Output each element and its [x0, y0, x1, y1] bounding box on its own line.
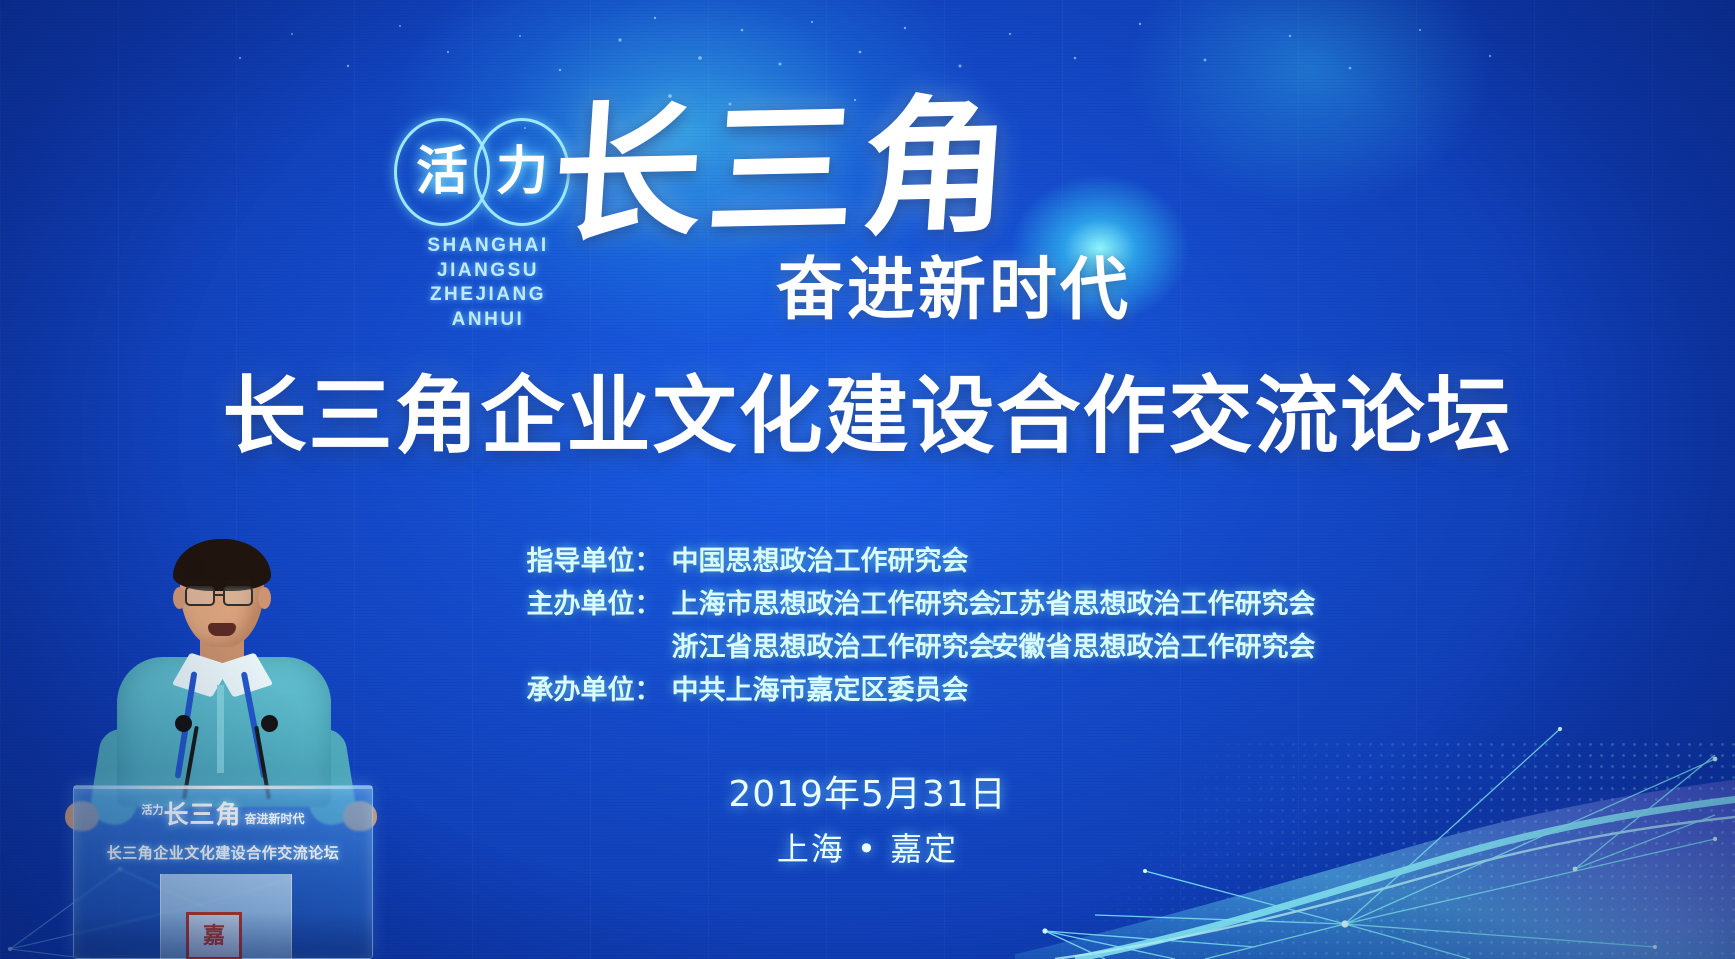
- region-line-zhejiang: ZHEJIANG: [400, 283, 576, 308]
- vitality-badge-group: 活 力: [394, 118, 570, 226]
- podium-shadow: [74, 912, 372, 958]
- organizer-name-secondary: [992, 677, 1292, 704]
- glasses-lens-left-icon: [185, 586, 215, 606]
- podium-logo-brush: 长三角: [163, 800, 241, 829]
- brush-subtitle-new-era: 奋进新时代: [776, 256, 1131, 324]
- microphone-icon-right: [261, 715, 278, 732]
- organizer-name-secondary: [992, 548, 1292, 575]
- speaker-ear-right: [258, 587, 271, 609]
- speaker-eyebrow-right: [225, 580, 251, 584]
- region-line-jiangsu: JIANGSU: [400, 259, 576, 284]
- podium: 活力长三角奋进新时代 长三角企业文化建设合作交流论坛 嘉: [73, 785, 373, 959]
- conference-stage-backdrop: 活 力 SHANGHAI JIANGSU ZHEJIANG ANHUI 长三角 …: [0, 0, 1735, 959]
- speaker-at-podium: 活力长三角奋进新时代 长三角企业文化建设合作交流论坛 嘉: [55, 539, 385, 959]
- glasses-lens-right-icon: [223, 586, 253, 606]
- podium-title: 长三角企业文化建设合作交流论坛: [74, 842, 372, 863]
- podium-top-edge: [74, 786, 372, 789]
- organizer-name-primary: 上海市思想政治工作研究会: [662, 591, 992, 618]
- podium-logo-tag: 奋进新时代: [245, 812, 305, 826]
- speaker-mouth: [208, 623, 236, 636]
- organizer-name-primary: 中国思想政治工作研究会: [662, 548, 992, 575]
- organizer-name-secondary: 安徽省思想政治工作研究会: [992, 634, 1292, 661]
- organizer-label: [444, 634, 662, 661]
- microphone-icon-left: [175, 715, 192, 732]
- podium-logo-badge: 活力: [141, 804, 163, 817]
- organizer-name-primary: 浙江省思想政治工作研究会: [662, 634, 992, 661]
- podium-logo: 活力长三角奋进新时代: [74, 802, 372, 827]
- region-line-anhui: ANHUI: [400, 308, 576, 333]
- organizer-name-secondary: 江苏省思想政治工作研究会: [992, 591, 1292, 618]
- organizer-label: 主办单位：: [444, 591, 662, 618]
- organizer-name-primary: 中共上海市嘉定区委员会: [662, 677, 992, 704]
- event-logo-lockup: 活 力 SHANGHAI JIANGSU ZHEJIANG ANHUI 长三角 …: [394, 104, 1154, 344]
- brush-calligraphy-yangtze-delta: 长三角: [549, 91, 1022, 249]
- speaker-eyebrow-left: [186, 580, 212, 584]
- organizer-label: 指导单位：: [444, 548, 662, 575]
- glasses-bridge: [215, 594, 223, 596]
- organizer-label: 承办单位：: [444, 677, 662, 704]
- speaker-shirt-placket: [217, 685, 224, 773]
- page-title: 长三角企业文化建设合作交流论坛: [0, 374, 1735, 458]
